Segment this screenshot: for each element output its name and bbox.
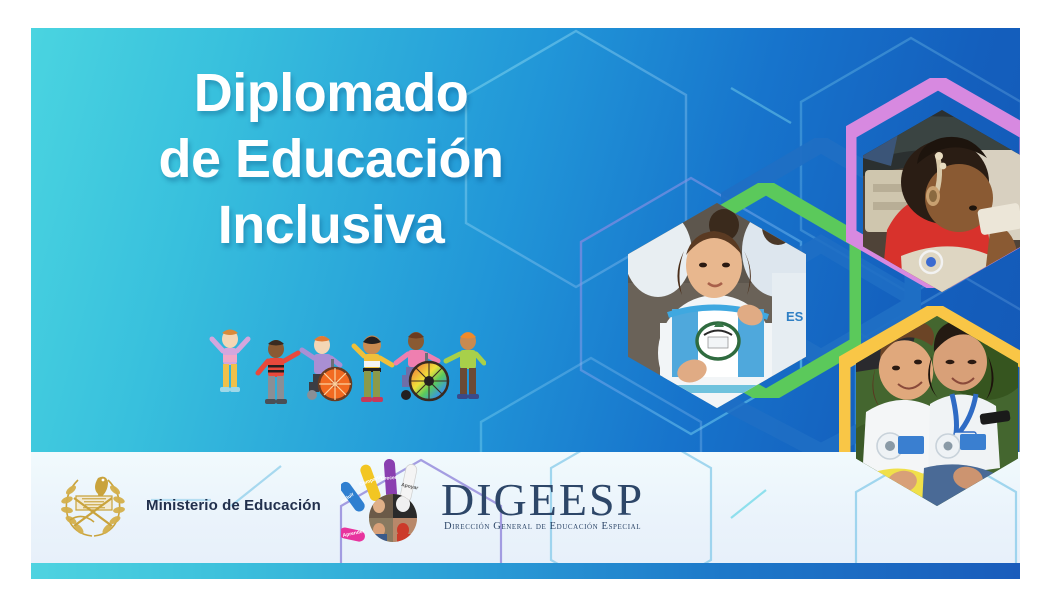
digeesp-logo: Incluir Compartir Crecer Apoyar Aprender	[341, 458, 644, 549]
ministerio-label: Ministerio de Educación	[146, 497, 321, 514]
page-title: Diplomado de Educación Inclusiva	[71, 60, 591, 258]
guatemala-coat-of-arms-icon	[54, 464, 132, 547]
child-6	[446, 332, 484, 399]
title-line-1: Diplomado	[71, 60, 591, 126]
title-line-3: Inclusiva	[71, 192, 591, 258]
svg-text:Crecer: Crecer	[381, 475, 397, 482]
bottom-accent-bar	[31, 563, 1020, 579]
inclusive-children-illustration	[206, 325, 486, 415]
child-5-wheelchair	[396, 332, 448, 400]
child-3-wheelchair	[302, 336, 351, 400]
child-2	[258, 340, 298, 404]
ministerio-de-educacion-logo: Ministerio de Educación	[54, 464, 321, 547]
child-1	[212, 330, 248, 393]
svg-text:ES: ES	[786, 309, 804, 324]
digeesp-acronym: DIGEESP	[441, 476, 644, 524]
child-4	[354, 336, 392, 403]
digeesp-hand-icon: Incluir Compartir Crecer Apoyar Aprender	[341, 458, 437, 549]
poster-canvas: Diplomado de Educación Inclusiva	[31, 28, 1020, 579]
title-line-2: de Educación	[71, 126, 591, 192]
digeesp-subtitle: Dirección General de Educación Especial	[444, 521, 641, 532]
footer-bar: Ministerio de Educación	[31, 452, 1020, 563]
